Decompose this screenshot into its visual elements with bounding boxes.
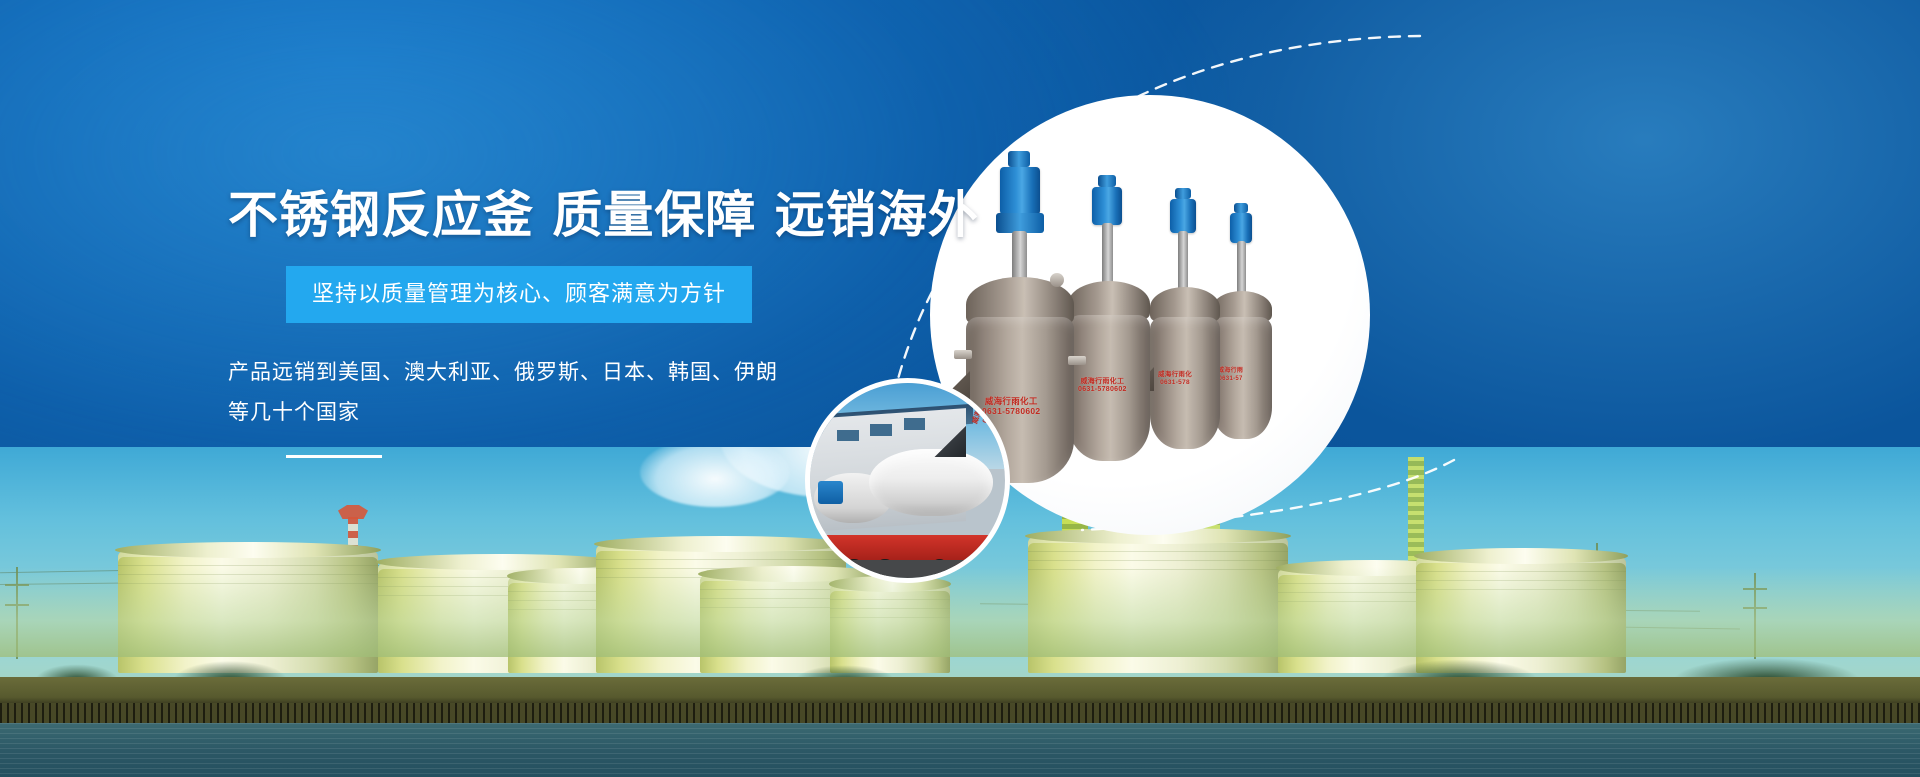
transport-tank-main [869,449,994,515]
reactor-1-flange-left [954,350,972,359]
reactor-1-gearbox [996,213,1044,233]
page-title: 不锈钢反应釜 质量保障 远销海外 [228,190,888,240]
reactor-2-motor [1092,187,1122,225]
tree-line [0,635,1920,681]
reactor-2-brand: 威海行雨化工 0631-5780602 [1078,378,1127,396]
reactor-2-phone: 0631-5780602 [1078,386,1127,393]
reactor-4-phone: 0631-57 [1219,376,1243,382]
reactor-3-brand: 威海行雨化 0631-578 [1158,371,1192,387]
description-line-1: 产品远销到美国、澳大利亚、俄罗斯、日本、韩国、伊朗 [228,353,888,393]
reactor-3-motor-cap [1175,188,1191,199]
water-ripples [0,723,1920,777]
reactor-1-motor-cap [1008,151,1030,167]
reactor-4-motor-cap [1234,203,1248,213]
reactor-4-brand: 威海行雨 0631-57 [1218,368,1243,383]
reactor-4-company: 威海行雨 [1218,368,1243,374]
reactor-3-company: 威海行雨化 [1158,371,1192,378]
slogan-pill: 坚持以质量管理为核心、顾客满意为方针 [286,266,752,323]
reactor-1-motor [1000,167,1040,215]
quay-ribbing [0,703,1920,725]
factory-window-3 [904,418,925,430]
hero-banner: 威海行雨 0631-57 威海行雨化 0631-578 [0,0,1920,777]
divider-rule [286,455,382,458]
transport-ground [810,560,1005,578]
reactor-2-motor-cap [1098,175,1116,187]
reactor-1-flange-right [1068,356,1086,365]
reactor-3-phone: 0631-578 [1160,379,1190,386]
reactor-3-head [1150,287,1220,321]
reactor-4-motor [1230,213,1252,243]
hero-copy: 不锈钢反应釜 质量保障 远销海外 坚持以质量管理为核心、顾客满意为方针 产品远销… [228,190,888,458]
reactor-1-nozzle-top [1050,273,1064,287]
description-line-2: 等几十个国家 [228,393,888,433]
reactor-2-company: 威海行雨化工 [1080,378,1124,385]
reactor-3-motor [1170,199,1196,233]
transport-motor [818,481,843,504]
description-text: 产品远销到美国、澳大利亚、俄罗斯、日本、韩国、伊朗 等几十个国家 [228,353,888,433]
reactor-2-head [1068,281,1150,319]
